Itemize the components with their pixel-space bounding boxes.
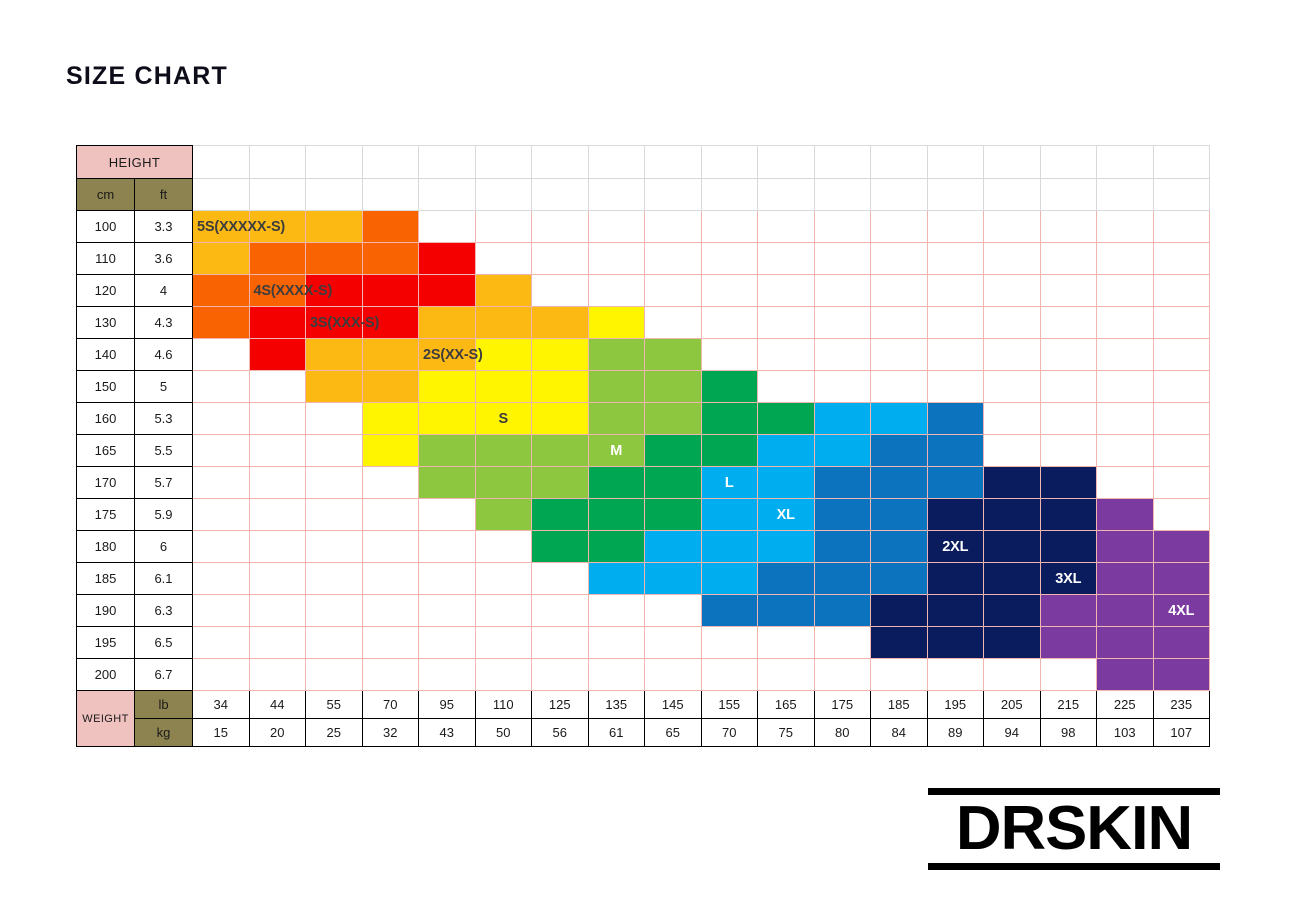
size-band-label: 4S(XXXX-S)	[254, 283, 333, 299]
size-chart-row: 1856.13XL	[77, 563, 1210, 595]
size-cell	[1153, 275, 1210, 307]
size-cell: 4XL	[1153, 595, 1210, 627]
size-cell: M	[588, 435, 645, 467]
size-cell	[758, 467, 815, 499]
size-band-label: M	[610, 443, 622, 459]
size-cell	[927, 339, 984, 371]
weight-kg-value: 89	[927, 719, 984, 747]
size-chart-row: 1906.34XL	[77, 595, 1210, 627]
size-cell	[701, 499, 758, 531]
size-cell	[814, 403, 871, 435]
size-cell	[645, 659, 702, 691]
size-cell	[814, 275, 871, 307]
size-cell	[814, 659, 871, 691]
header-spacer-cell	[927, 146, 984, 179]
size-cell	[362, 563, 419, 595]
header-spacer-cell	[419, 179, 476, 211]
size-cell	[871, 243, 928, 275]
size-cell	[701, 435, 758, 467]
size-chart-table-wrapper: HEIGHTcmft1003.35S(XXXXX-S)1103.612044S(…	[76, 145, 1210, 747]
size-cell	[927, 435, 984, 467]
size-cell	[927, 499, 984, 531]
size-cell	[306, 531, 363, 563]
size-chart-table: HEIGHTcmft1003.35S(XXXXX-S)1103.612044S(…	[76, 145, 1210, 747]
weight-lb-value: 165	[758, 691, 815, 719]
size-cell	[927, 403, 984, 435]
size-cell	[927, 659, 984, 691]
size-cell	[475, 595, 532, 627]
height-cm-value: 190	[77, 595, 135, 627]
height-header-row: HEIGHT	[77, 146, 1210, 179]
size-cell: S	[475, 403, 532, 435]
size-cell	[758, 211, 815, 243]
size-cell	[588, 307, 645, 339]
size-cell	[419, 371, 476, 403]
size-cell	[1153, 563, 1210, 595]
header-spacer-cell	[419, 146, 476, 179]
size-cell	[871, 371, 928, 403]
size-cell	[1040, 339, 1097, 371]
size-cell	[475, 275, 532, 307]
size-cell	[306, 371, 363, 403]
size-cell	[645, 499, 702, 531]
size-cell	[1097, 339, 1154, 371]
header-spacer-cell	[984, 146, 1041, 179]
size-cell	[927, 563, 984, 595]
size-cell	[193, 275, 250, 307]
weight-kg-value: 98	[1040, 719, 1097, 747]
size-cell	[645, 275, 702, 307]
size-cell	[475, 307, 532, 339]
size-cell	[645, 211, 702, 243]
size-cell	[419, 659, 476, 691]
height-ft-value: 4	[135, 275, 193, 307]
size-cell	[1153, 211, 1210, 243]
size-cell	[984, 275, 1041, 307]
size-cell	[306, 467, 363, 499]
size-cell	[1097, 211, 1154, 243]
header-spacer-cell	[588, 179, 645, 211]
size-cell	[193, 595, 250, 627]
size-band-label: 2XL	[942, 539, 968, 555]
size-cell	[362, 435, 419, 467]
header-spacer-cell	[1153, 179, 1210, 211]
weight-lb-value: 185	[871, 691, 928, 719]
size-cell	[984, 627, 1041, 659]
header-spacer-cell	[871, 146, 928, 179]
header-spacer-cell	[306, 146, 363, 179]
size-cell	[814, 627, 871, 659]
size-cell	[475, 563, 532, 595]
size-cell	[532, 563, 589, 595]
size-band-label: 2S(XX-S)	[423, 347, 483, 363]
size-cell: 4S(XXXX-S)	[249, 275, 306, 307]
size-cell	[645, 435, 702, 467]
size-cell	[306, 211, 363, 243]
size-cell	[984, 563, 1041, 595]
size-cell	[362, 627, 419, 659]
size-cell	[249, 531, 306, 563]
header-spacer-cell	[814, 146, 871, 179]
size-band-label: 5S(XXXXX-S)	[197, 219, 285, 235]
weight-lb-value: 110	[475, 691, 532, 719]
size-cell	[758, 531, 815, 563]
header-spacer-cell	[532, 146, 589, 179]
size-cell	[1097, 531, 1154, 563]
size-band-label: L	[725, 475, 734, 491]
weight-kg-value: 61	[588, 719, 645, 747]
size-cell	[532, 243, 589, 275]
header-spacer-cell	[249, 179, 306, 211]
size-cell	[1097, 275, 1154, 307]
height-ft-value: 6.3	[135, 595, 193, 627]
size-cell: XL	[758, 499, 815, 531]
size-cell	[645, 595, 702, 627]
size-cell	[814, 499, 871, 531]
size-cell	[532, 435, 589, 467]
height-ft-value: 6.5	[135, 627, 193, 659]
size-cell	[532, 307, 589, 339]
size-chart-row: 1705.7L	[77, 467, 1210, 499]
size-cell	[984, 531, 1041, 563]
size-cell	[193, 403, 250, 435]
size-cell	[419, 627, 476, 659]
weight-kg-value: 25	[306, 719, 363, 747]
weight-kg-value: 107	[1153, 719, 1210, 747]
size-cell	[701, 211, 758, 243]
height-cm-value: 130	[77, 307, 135, 339]
header-spacer-cell	[306, 179, 363, 211]
size-cell: 3XL	[1040, 563, 1097, 595]
size-cell	[984, 371, 1041, 403]
size-cell	[701, 659, 758, 691]
weight-lb-value: 215	[1040, 691, 1097, 719]
size-band-label: 3XL	[1055, 571, 1081, 587]
height-header-label: HEIGHT	[77, 146, 193, 179]
size-chart-row: 1655.5M	[77, 435, 1210, 467]
size-cell	[362, 371, 419, 403]
size-cell	[645, 531, 702, 563]
weight-kg-value: 50	[475, 719, 532, 747]
size-cell	[306, 563, 363, 595]
size-cell	[927, 371, 984, 403]
size-cell	[1153, 659, 1210, 691]
size-cell	[984, 403, 1041, 435]
size-cell	[306, 435, 363, 467]
height-ft-value: 6.1	[135, 563, 193, 595]
size-cell	[588, 339, 645, 371]
size-cell	[1153, 243, 1210, 275]
size-cell	[249, 659, 306, 691]
height-cm-value: 180	[77, 531, 135, 563]
header-spacer-cell	[758, 179, 815, 211]
header-spacer-cell	[362, 146, 419, 179]
size-cell	[306, 627, 363, 659]
height-ft-value: 4.6	[135, 339, 193, 371]
header-spacer-cell	[1097, 179, 1154, 211]
size-cell	[701, 339, 758, 371]
size-cell	[362, 339, 419, 371]
size-cell	[1097, 467, 1154, 499]
weight-lb-value: 145	[645, 691, 702, 719]
size-cell	[249, 435, 306, 467]
size-cell	[758, 371, 815, 403]
size-cell	[588, 627, 645, 659]
weight-kg-value: 70	[701, 719, 758, 747]
size-cell	[758, 339, 815, 371]
weight-kg-value: 20	[249, 719, 306, 747]
size-cell	[1040, 403, 1097, 435]
weight-lb-value: 95	[419, 691, 476, 719]
size-cell	[758, 403, 815, 435]
size-cell	[1153, 435, 1210, 467]
size-cell	[532, 595, 589, 627]
size-cell	[645, 467, 702, 499]
weight-lb-value: 155	[701, 691, 758, 719]
weight-kg-value: 84	[871, 719, 928, 747]
size-cell	[984, 499, 1041, 531]
size-cell	[814, 307, 871, 339]
size-cell: 5S(XXXXX-S)	[193, 211, 250, 243]
size-cell	[871, 435, 928, 467]
size-cell	[1153, 307, 1210, 339]
size-cell	[927, 627, 984, 659]
weight-kg-value: 94	[984, 719, 1041, 747]
weight-kg-value: 15	[193, 719, 250, 747]
size-cell	[814, 531, 871, 563]
weight-lb-value: 44	[249, 691, 306, 719]
size-cell	[193, 243, 250, 275]
size-cell	[532, 403, 589, 435]
size-cell	[362, 467, 419, 499]
size-cell	[984, 467, 1041, 499]
size-cell	[1040, 211, 1097, 243]
unit-header-row: cmft	[77, 179, 1210, 211]
height-ft-value: 6.7	[135, 659, 193, 691]
size-cell	[193, 627, 250, 659]
size-cell	[871, 659, 928, 691]
header-spacer-cell	[927, 179, 984, 211]
height-ft-value: 5.9	[135, 499, 193, 531]
size-cell	[758, 627, 815, 659]
size-cell	[758, 243, 815, 275]
size-cell	[249, 339, 306, 371]
size-cell	[814, 339, 871, 371]
weight-lb-value: 195	[927, 691, 984, 719]
weight-row: kg15202532435056616570758084899498103107	[77, 719, 1210, 747]
weight-lb-value: 135	[588, 691, 645, 719]
size-cell	[1097, 307, 1154, 339]
size-chart-row: 1003.35S(XXXXX-S)	[77, 211, 1210, 243]
size-cell	[1040, 371, 1097, 403]
size-cell	[588, 563, 645, 595]
size-cell	[701, 531, 758, 563]
weight-lb-value: 34	[193, 691, 250, 719]
size-cell	[814, 595, 871, 627]
size-cell	[871, 275, 928, 307]
size-cell	[588, 211, 645, 243]
weight-header-label: WEIGHT	[77, 691, 135, 747]
weight-lb-value: 70	[362, 691, 419, 719]
size-cell	[1097, 403, 1154, 435]
size-cell	[249, 595, 306, 627]
size-cell	[249, 371, 306, 403]
size-cell	[193, 659, 250, 691]
size-cell	[419, 531, 476, 563]
size-cell	[1153, 339, 1210, 371]
size-cell	[475, 243, 532, 275]
size-cell	[532, 339, 589, 371]
size-cell	[927, 275, 984, 307]
size-cell	[193, 531, 250, 563]
height-cm-value: 175	[77, 499, 135, 531]
size-cell	[306, 659, 363, 691]
size-cell	[362, 595, 419, 627]
height-cm-value: 170	[77, 467, 135, 499]
size-cell	[1153, 371, 1210, 403]
height-ft-value: 5.7	[135, 467, 193, 499]
size-cell	[814, 371, 871, 403]
size-cell	[419, 403, 476, 435]
size-cell	[1040, 243, 1097, 275]
size-cell	[1040, 499, 1097, 531]
size-cell	[701, 307, 758, 339]
weight-lb-value: 225	[1097, 691, 1154, 719]
size-cell	[1040, 659, 1097, 691]
size-cell	[1153, 403, 1210, 435]
size-chart-row: 1103.6	[77, 243, 1210, 275]
header-spacer-cell	[193, 146, 250, 179]
weight-lb-value: 55	[306, 691, 363, 719]
size-cell	[419, 563, 476, 595]
height-cm-value: 150	[77, 371, 135, 403]
size-cell	[871, 499, 928, 531]
size-chart-row: 2006.7	[77, 659, 1210, 691]
size-chart-row: 1404.62S(XX-S)	[77, 339, 1210, 371]
size-cell	[249, 499, 306, 531]
page-title: SIZE CHART	[66, 62, 228, 91]
size-cell	[927, 467, 984, 499]
size-cell	[758, 307, 815, 339]
header-spacer-cell	[645, 146, 702, 179]
height-ft-value: 5.3	[135, 403, 193, 435]
size-cell	[419, 211, 476, 243]
weight-lb-value: 235	[1153, 691, 1210, 719]
weight-kg-value: 32	[362, 719, 419, 747]
size-cell: L	[701, 467, 758, 499]
height-cm-value: 200	[77, 659, 135, 691]
weight-lb-value: 175	[814, 691, 871, 719]
size-cell	[588, 467, 645, 499]
height-ft-value: 5	[135, 371, 193, 403]
size-cell	[475, 531, 532, 563]
weight-kg-value: 75	[758, 719, 815, 747]
weight-row: WEIGHTlb34445570951101251351451551651751…	[77, 691, 1210, 719]
unit-header-ft: ft	[135, 179, 193, 211]
size-cell	[419, 275, 476, 307]
size-cell	[1040, 467, 1097, 499]
header-spacer-cell	[1040, 179, 1097, 211]
weight-lb-value: 205	[984, 691, 1041, 719]
header-spacer-cell	[475, 146, 532, 179]
size-cell	[1040, 275, 1097, 307]
size-cell	[871, 339, 928, 371]
size-cell	[1097, 659, 1154, 691]
height-cm-value: 120	[77, 275, 135, 307]
size-cell	[701, 275, 758, 307]
brand-wordmark: DRSKIN	[925, 798, 1223, 860]
size-cell	[588, 243, 645, 275]
height-cm-value: 140	[77, 339, 135, 371]
size-cell	[871, 467, 928, 499]
size-cell	[362, 403, 419, 435]
size-cell	[927, 595, 984, 627]
height-cm-value: 165	[77, 435, 135, 467]
size-cell	[645, 627, 702, 659]
size-cell	[1097, 243, 1154, 275]
size-cell	[475, 499, 532, 531]
weight-kg-value: 103	[1097, 719, 1154, 747]
size-band-label: 4XL	[1168, 603, 1194, 619]
size-cell	[1040, 595, 1097, 627]
size-cell	[927, 307, 984, 339]
height-ft-value: 3.3	[135, 211, 193, 243]
size-cell	[1040, 627, 1097, 659]
size-cell	[1097, 371, 1154, 403]
size-cell	[362, 499, 419, 531]
size-chart-row: 1755.9XL	[77, 499, 1210, 531]
size-band-label: XL	[777, 507, 795, 523]
size-cell	[701, 563, 758, 595]
size-cell: 2XL	[927, 531, 984, 563]
size-cell	[249, 307, 306, 339]
height-cm-value: 185	[77, 563, 135, 595]
size-cell	[475, 659, 532, 691]
size-cell	[984, 595, 1041, 627]
brand-bar-bottom	[928, 863, 1220, 870]
header-spacer-cell	[984, 179, 1041, 211]
size-cell	[532, 531, 589, 563]
size-cell	[193, 435, 250, 467]
size-cell	[475, 339, 532, 371]
weight-kg-value: 80	[814, 719, 871, 747]
header-spacer-cell	[758, 146, 815, 179]
size-cell	[532, 275, 589, 307]
size-cell	[193, 499, 250, 531]
size-cell	[532, 371, 589, 403]
size-cell	[588, 275, 645, 307]
size-cell	[1097, 435, 1154, 467]
size-cell	[588, 531, 645, 563]
size-cell	[475, 371, 532, 403]
size-cell	[758, 563, 815, 595]
size-cell	[1097, 563, 1154, 595]
size-cell	[984, 307, 1041, 339]
size-cell: 3S(XXX-S)	[306, 307, 363, 339]
size-cell	[249, 563, 306, 595]
size-cell	[984, 659, 1041, 691]
size-cell	[1040, 435, 1097, 467]
header-spacer-cell	[701, 146, 758, 179]
size-band-label: 3S(XXX-S)	[310, 315, 379, 331]
size-cell	[419, 307, 476, 339]
size-cell	[306, 595, 363, 627]
size-cell	[871, 211, 928, 243]
size-chart-row: 18062XL	[77, 531, 1210, 563]
size-cell	[984, 339, 1041, 371]
size-cell	[1153, 531, 1210, 563]
size-cell	[927, 211, 984, 243]
